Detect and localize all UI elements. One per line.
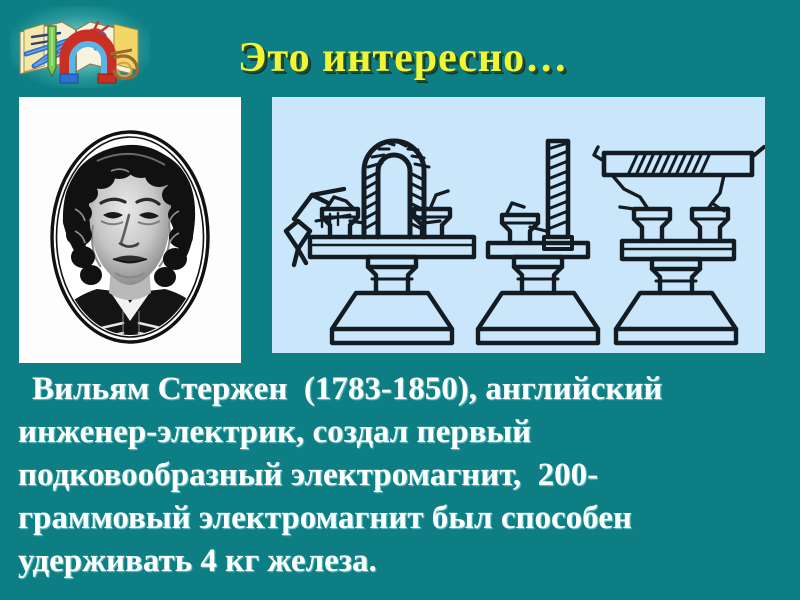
body-text: Вильям Стержен (1783-1850), английский и… [18,368,782,583]
body-line: Вильям Стержен (1783-1850), английский [18,368,782,411]
slide-title: Это интересно… [238,34,568,82]
logo-artwork [10,6,150,88]
electromagnet-apparatus-figure [272,97,765,353]
body-line: удерживать 4 кг железа. [18,540,782,583]
apparatus-drawing [272,97,765,353]
body-line: граммовый электромагнит был способен [18,497,782,540]
school-supplies-clipart-icon [10,6,150,88]
presentation-slide: Это интересно… [0,0,800,600]
body-line: инженер-электрик, создал первый [18,411,782,454]
portrait-panel [19,97,241,363]
body-line: подковообразный электромагнит, 200- [18,454,782,497]
portrait-engraving [19,97,241,363]
